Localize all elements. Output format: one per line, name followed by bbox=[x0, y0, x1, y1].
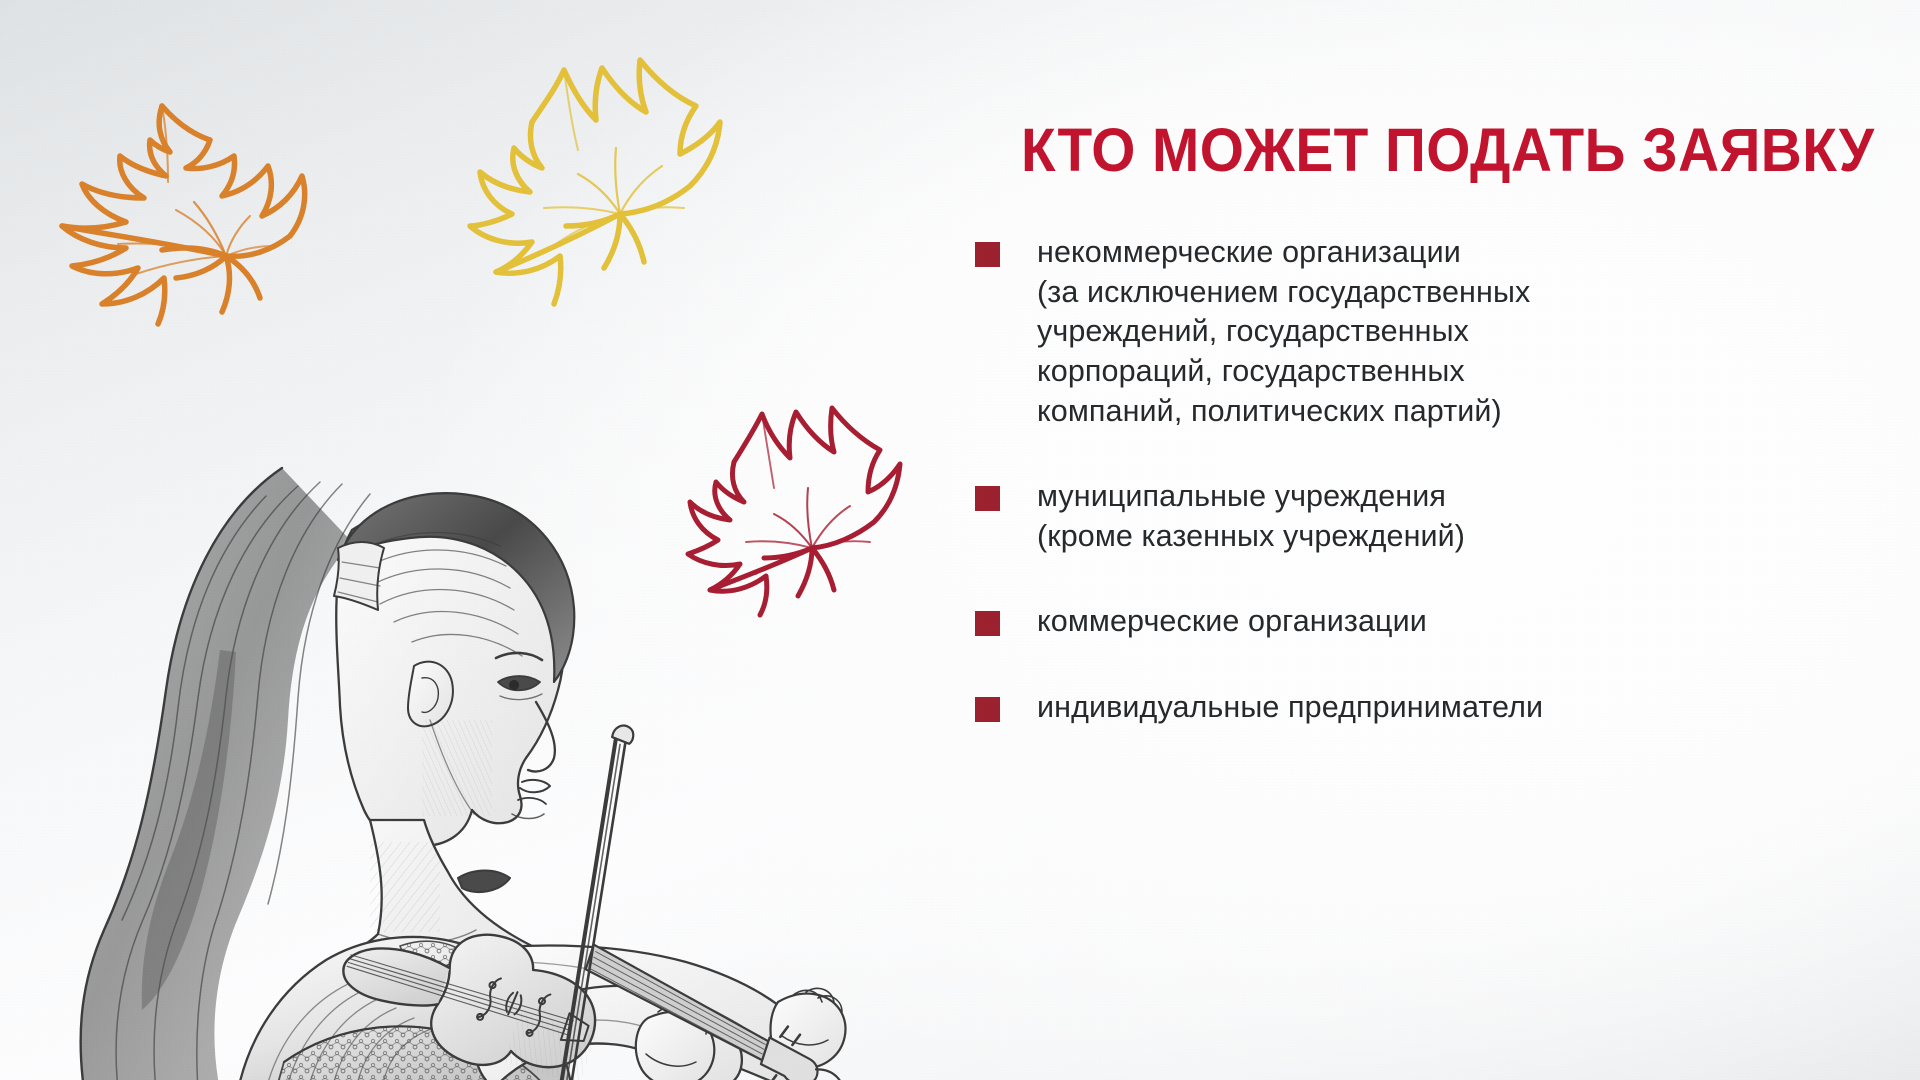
list-item-line: (кроме казенных учреждений) bbox=[1037, 517, 1875, 557]
page-title: КТО МОЖЕТ ПОДАТЬ ЗАЯВКУ bbox=[1021, 120, 1815, 181]
list-item-line: индивидуальные предприниматели bbox=[1037, 688, 1875, 728]
list-item-line: некоммерческие организации bbox=[1037, 233, 1875, 273]
maple-leaf-orange-icon bbox=[44, 96, 314, 326]
eligibility-list: некоммерческие организации (за исключени… bbox=[975, 233, 1875, 728]
list-item-line: корпораций, государственных bbox=[1037, 352, 1875, 392]
slide-canvas: КТО МОЖЕТ ПОДАТЬ ЗАЯВКУ некоммерческие о… bbox=[0, 0, 1920, 1080]
list-item: некоммерческие организации (за исключени… bbox=[975, 233, 1875, 431]
square-bullet-icon bbox=[975, 697, 1000, 722]
list-item-line: учреждений, государственных bbox=[1037, 312, 1875, 352]
square-bullet-icon bbox=[975, 242, 1000, 267]
list-item: коммерческие организации bbox=[975, 602, 1875, 642]
list-item: муниципальные учреждения (кроме казенных… bbox=[975, 477, 1875, 556]
list-item-text: некоммерческие организации (за исключени… bbox=[1037, 233, 1875, 431]
maple-leaf-yellow-icon bbox=[470, 54, 720, 314]
list-item-text: муниципальные учреждения (кроме казенных… bbox=[1037, 477, 1875, 556]
list-item-line: компаний, политических партий) bbox=[1037, 392, 1875, 432]
square-bullet-icon bbox=[975, 486, 1000, 511]
list-item-text: индивидуальные предприниматели bbox=[1037, 688, 1875, 728]
text-content-column: КТО МОЖЕТ ПОДАТЬ ЗАЯВКУ некоммерческие о… bbox=[975, 120, 1875, 728]
list-item-text: коммерческие организации bbox=[1037, 602, 1875, 642]
square-bullet-icon bbox=[975, 611, 1000, 636]
list-item: индивидуальные предприниматели bbox=[975, 688, 1875, 728]
list-item-line: (за исключением государственных bbox=[1037, 273, 1875, 313]
list-item-line: коммерческие организации bbox=[1037, 602, 1875, 642]
list-item-line: муниципальные учреждения bbox=[1037, 477, 1875, 517]
violinist-pencil-sketch-illustration bbox=[70, 390, 920, 1080]
